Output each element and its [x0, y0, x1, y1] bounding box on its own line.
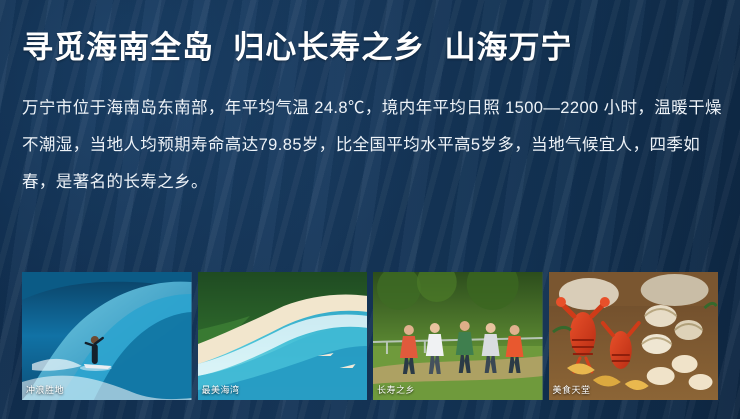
photo-caption: 长寿之乡 [377, 383, 415, 396]
seafood-photo[interactable]: 美食天堂 [549, 272, 719, 400]
bay-photo-artwork [198, 272, 368, 400]
surfing-photo[interactable]: 冲浪胜地 [22, 272, 192, 400]
slide-title: 寻觅海南全岛 归心长寿之乡 山海万宁 [22, 22, 572, 67]
slide-body-text: 万宁市位于海南岛东南部，年平均气温 24.8℃，境内年平均日照 1500—220… [22, 90, 722, 201]
photo-caption: 最美海湾 [202, 383, 240, 396]
seafood-photo-artwork [549, 272, 719, 400]
bay-photo[interactable]: 最美海湾 [198, 272, 368, 400]
photo-caption: 美食天堂 [553, 383, 591, 396]
photo-strip: 冲浪胜地 [22, 272, 718, 400]
photo-caption: 冲浪胜地 [26, 383, 64, 396]
longevity-photo-artwork [373, 272, 543, 400]
surfing-photo-artwork [22, 272, 192, 400]
longevity-photo[interactable]: 长寿之乡 [373, 272, 543, 400]
slide-canvas: 寻觅海南全岛 归心长寿之乡 山海万宁 万宁市位于海南岛东南部，年平均气温 24.… [0, 0, 740, 419]
